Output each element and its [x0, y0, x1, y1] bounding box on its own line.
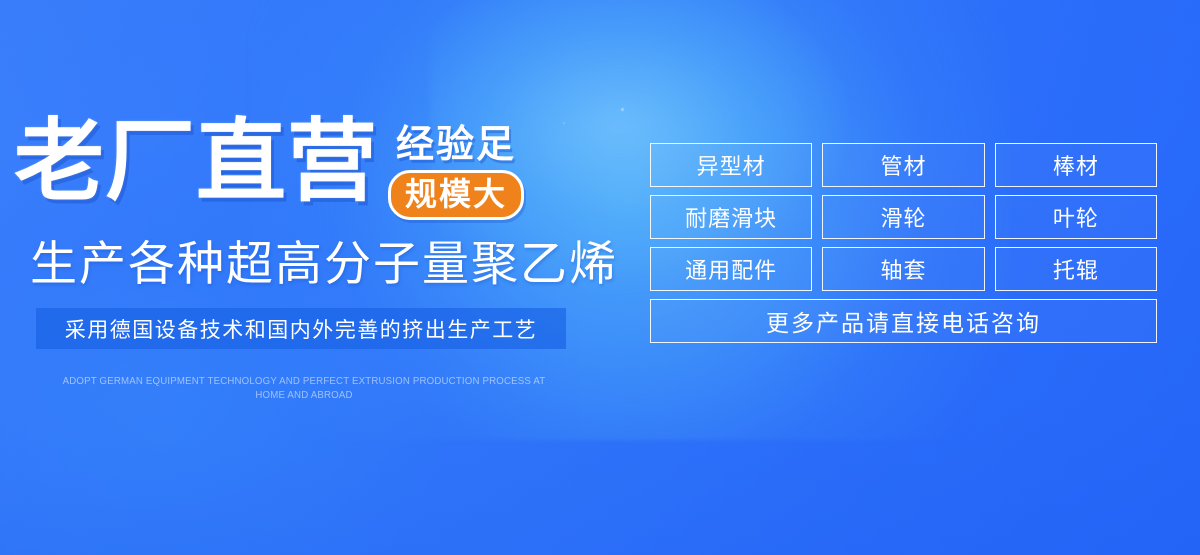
product-cell-label: 叶轮 — [1053, 201, 1099, 233]
product-cell-pipe[interactable]: 管材 — [822, 143, 984, 187]
product-cell-label: 通用配件 — [685, 253, 777, 285]
product-cell-general-parts[interactable]: 通用配件 — [650, 247, 812, 291]
headline-main-title: 老厂直营 — [14, 112, 378, 212]
product-cell-label: 轴套 — [880, 253, 926, 285]
product-category-grid: 异型材 管材 棒材 耐磨滑块 滑轮 叶轮 通用配件 — [650, 143, 1157, 343]
promo-banner: 老厂直营 经验足 规模大 生产各种超高分子量聚乙烯 采用德国设备技术和国内外完善… — [0, 0, 1200, 555]
tagline-band: 采用德国设备技术和国内外完善的挤出生产工艺 — [36, 308, 566, 349]
product-cell-label: 异型材 — [697, 149, 766, 181]
product-cell-label: 托辊 — [1053, 253, 1099, 285]
product-cell-label: 棒材 — [1053, 149, 1099, 181]
product-cell-bushing[interactable]: 轴套 — [822, 247, 984, 291]
product-cell-idler-roller[interactable]: 托辊 — [995, 247, 1157, 291]
product-cell-wear-slider[interactable]: 耐磨滑块 — [650, 195, 812, 239]
headline-block: 老厂直营 经验足 规模大 生产各种超高分子量聚乙烯 采用德国设备技术和国内外完善… — [0, 0, 620, 555]
product-row: 耐磨滑块 滑轮 叶轮 — [650, 195, 1157, 239]
product-row-footer: 更多产品请直接电话咨询 — [650, 299, 1157, 343]
headline-side-group: 经验足 规模大 — [388, 112, 524, 220]
more-products-contact-cell[interactable]: 更多产品请直接电话咨询 — [650, 299, 1157, 343]
product-cell-profile[interactable]: 异型材 — [650, 143, 812, 187]
headline-badge-experience: 经验足 — [396, 122, 516, 166]
sparkle-dot — [621, 108, 624, 111]
product-row: 异型材 管材 棒材 — [650, 143, 1157, 187]
product-cell-pulley[interactable]: 滑轮 — [822, 195, 984, 239]
product-cell-label: 管材 — [880, 149, 926, 181]
headline-row: 老厂直营 经验足 规模大 — [14, 112, 524, 220]
product-row: 通用配件 轴套 托辊 — [650, 247, 1157, 291]
english-caption: ADOPT GERMAN EQUIPMENT TECHNOLOGY AND PE… — [57, 374, 550, 402]
product-cell-label: 耐磨滑块 — [685, 201, 777, 233]
headline-badge-scale: 规模大 — [388, 170, 524, 220]
product-cell-rod[interactable]: 棒材 — [995, 143, 1157, 187]
tagline-text: 采用德国设备技术和国内外完善的挤出生产工艺 — [65, 314, 538, 344]
subheadline: 生产各种超高分子量聚乙烯 — [30, 236, 618, 294]
product-cell-label: 滑轮 — [880, 201, 926, 233]
product-cell-impeller[interactable]: 叶轮 — [995, 195, 1157, 239]
more-products-label: 更多产品请直接电话咨询 — [766, 304, 1041, 338]
